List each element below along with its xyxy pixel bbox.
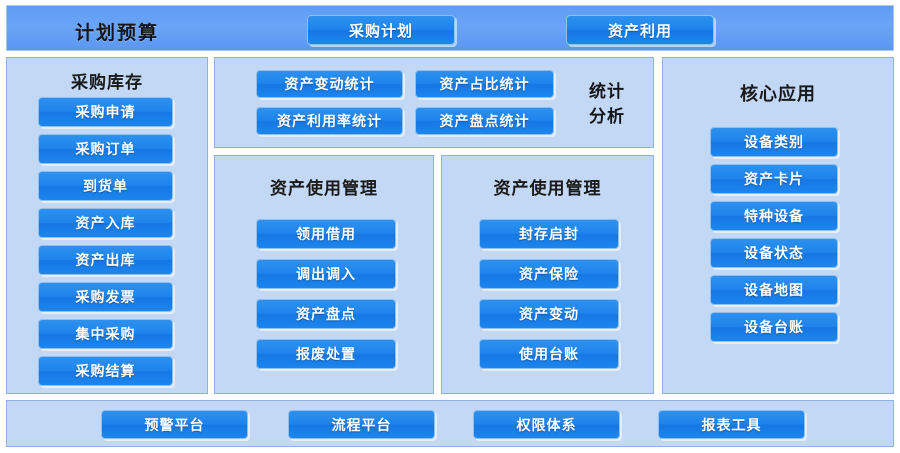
button-special-equipment[interactable]: 特种设备 — [710, 201, 838, 231]
button-usage-ledger[interactable]: 使用台账 — [479, 339, 619, 369]
button-requisition-borrow[interactable]: 领用借用 — [256, 219, 396, 249]
platform-bar: 预警平台 流程平台 权限体系 报表工具 — [6, 400, 894, 447]
button-asset-outbound[interactable]: 资产出库 — [38, 245, 173, 275]
button-alert-platform[interactable]: 预警平台 — [101, 410, 248, 439]
button-report-tool[interactable]: 报表工具 — [658, 410, 805, 439]
statistics-label-line-2: 分析 — [570, 105, 644, 130]
button-asset-proportion-statistics[interactable]: 资产占比统计 — [415, 70, 554, 98]
button-asset-inbound[interactable]: 资产入库 — [38, 208, 173, 238]
button-asset-stocktaking[interactable]: 资产盘点 — [256, 299, 396, 329]
banner-button-asset-utilization[interactable]: 资产利用 — [566, 15, 714, 45]
panel-asset-usage-left: 资产使用管理 领用借用 调出调入 资产盘点 报废处置 — [214, 155, 434, 394]
button-centralized-procurement[interactable]: 集中采购 — [38, 319, 173, 349]
button-scrap-disposal[interactable]: 报废处置 — [256, 339, 396, 369]
button-purchase-settlement[interactable]: 采购结算 — [38, 356, 173, 386]
button-permission-system[interactable]: 权限体系 — [473, 410, 620, 439]
panel-asset-usage-right: 资产使用管理 封存启封 资产保险 资产变动 使用台账 — [441, 155, 654, 394]
button-asset-change[interactable]: 资产变动 — [479, 299, 619, 329]
button-asset-card[interactable]: 资产卡片 — [710, 164, 838, 194]
panel-title-core-application: 核心应用 — [663, 80, 893, 106]
button-equipment-map[interactable]: 设备地图 — [710, 275, 838, 305]
statistics-label-line-1: 统计 — [570, 80, 644, 105]
button-purchase-invoice[interactable]: 采购发票 — [38, 282, 173, 312]
button-purchase-request[interactable]: 采购申请 — [38, 97, 173, 127]
button-sealing-unsealing[interactable]: 封存启封 — [479, 219, 619, 249]
button-equipment-ledger[interactable]: 设备台账 — [710, 312, 838, 342]
button-asset-insurance[interactable]: 资产保险 — [479, 259, 619, 289]
panel-title-asset-usage-right: 资产使用管理 — [442, 174, 653, 199]
button-equipment-category[interactable]: 设备类别 — [710, 127, 838, 157]
panel-title-procurement-inventory: 采购库存 — [7, 68, 207, 93]
statistics-analysis-label: 统计 分析 — [570, 80, 644, 130]
banner-title: 计划预算 — [75, 18, 159, 45]
top-banner: 计划预算 采购计划 资产利用 — [6, 5, 894, 51]
panel-procurement-inventory: 采购库存 采购申请 采购订单 到货单 资产入库 资产出库 采购发票 集中采购 采… — [6, 57, 208, 394]
panel-title-asset-usage-left: 资产使用管理 — [215, 174, 433, 199]
button-arrival-note[interactable]: 到货单 — [38, 171, 173, 201]
button-equipment-status[interactable]: 设备状态 — [710, 238, 838, 268]
button-asset-utilization-rate-statistics[interactable]: 资产利用率统计 — [256, 107, 403, 135]
banner-button-procurement-plan[interactable]: 采购计划 — [307, 15, 455, 45]
button-asset-change-statistics[interactable]: 资产变动统计 — [256, 70, 403, 98]
architecture-diagram: 计划预算 采购计划 资产利用 采购库存 采购申请 采购订单 到货单 资产入库 资… — [0, 0, 900, 453]
panel-core-application: 核心应用 设备类别 资产卡片 特种设备 设备状态 设备地图 设备台账 — [662, 57, 894, 394]
button-asset-inventory-statistics[interactable]: 资产盘点统计 — [415, 107, 554, 135]
button-transfer-in-out[interactable]: 调出调入 — [256, 259, 396, 289]
button-purchase-order[interactable]: 采购订单 — [38, 134, 173, 164]
button-process-platform[interactable]: 流程平台 — [288, 410, 435, 439]
